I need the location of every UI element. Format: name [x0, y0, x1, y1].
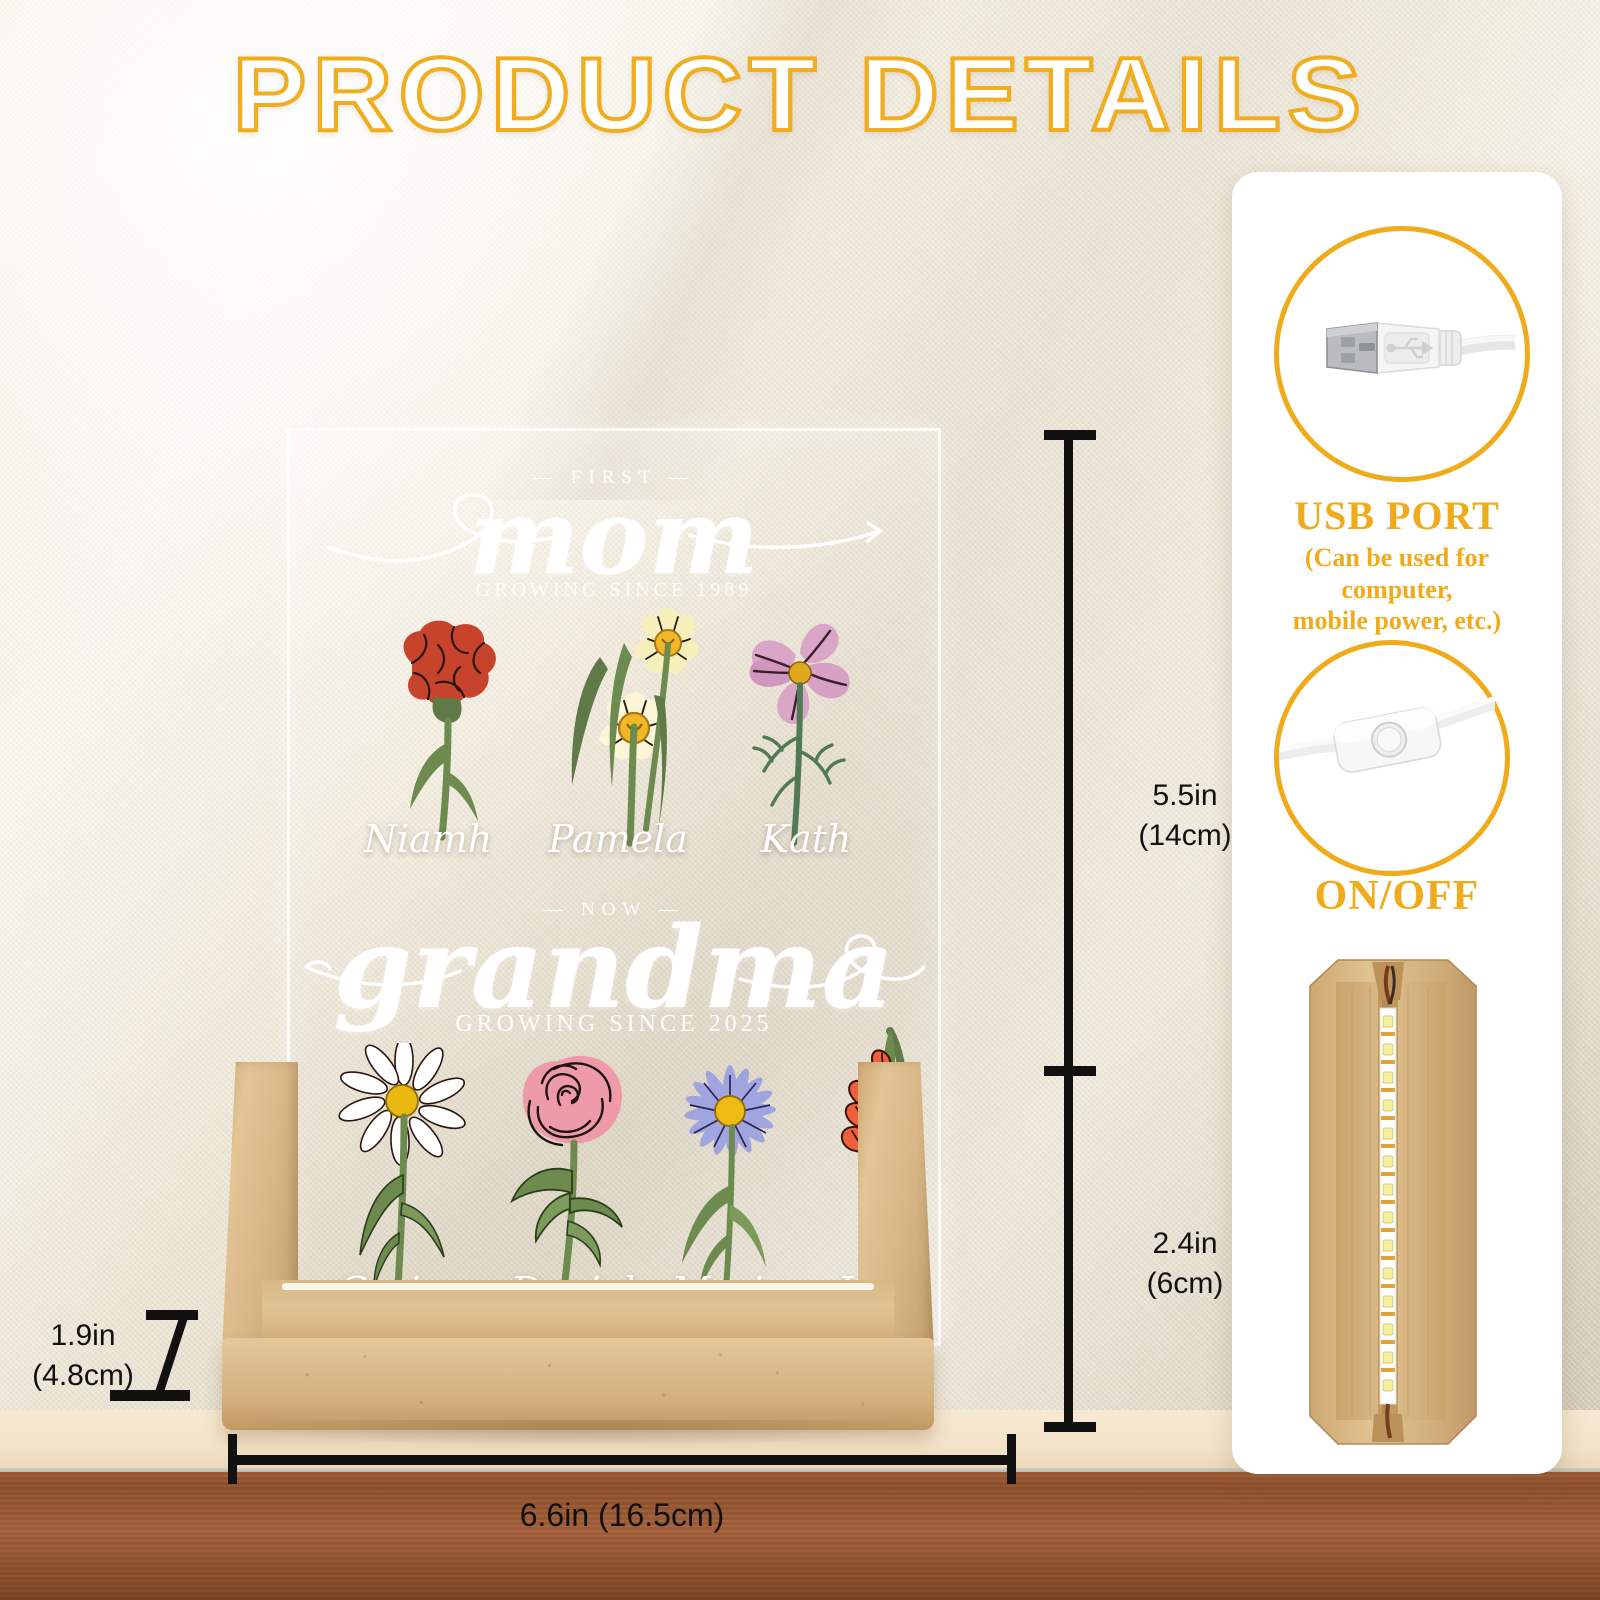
usb-sub-line-3: mobile power, etc.): [1293, 606, 1501, 635]
switch-title: ON/OFF: [1232, 872, 1562, 920]
dim-vertical-line: [1064, 430, 1073, 1432]
dim-depth-in: 1.9in: [50, 1319, 115, 1352]
inline-cable-switch-icon: [1279, 645, 1495, 861]
feature-card: USB PORT (Can be used for computer, mobi…: [1232, 172, 1562, 1474]
usb-subtitle: (Can be used for computer, mobile power,…: [1232, 542, 1562, 637]
dim-width-tick-right: [1007, 1434, 1016, 1484]
dim-base-cm: (6cm): [1147, 1267, 1224, 1300]
page-title: PRODUCT DETAILS: [0, 36, 1600, 155]
flower-name-label: Niamh: [328, 817, 528, 861]
usb-connector-icon: [1279, 231, 1515, 467]
dim-tick-top: [1044, 430, 1096, 440]
dim-tick-bottom: [1044, 1422, 1096, 1432]
stand-shadow: [238, 1420, 928, 1446]
dim-label-width: 6.6in (16.5cm): [422, 1494, 822, 1536]
dim-plaque-in: 5.5in: [1152, 779, 1217, 812]
stand-slot: [282, 1283, 874, 1290]
usb-sub-line-2: computer,: [1342, 575, 1453, 604]
flower-carnation-icon: [368, 611, 528, 841]
dim-width-line: [228, 1455, 1016, 1465]
wooden-base-led-strip-icon: [1284, 952, 1510, 1452]
flower-name-label: Pamela: [518, 817, 718, 861]
usb-sub-line-1: (Can be used for: [1305, 543, 1489, 572]
switch-circle-frame: [1274, 640, 1510, 876]
flower-cosmos-icon: [720, 611, 885, 846]
dim-depth-cm: (4.8cm): [32, 1359, 134, 1392]
usb-title: USB PORT: [1232, 492, 1562, 539]
dim-label-depth: 1.9in (4.8cm): [8, 1316, 158, 1395]
stand-base-front: [222, 1338, 934, 1430]
dim-tick-middle: [1044, 1066, 1096, 1076]
flower-daffodil-icon: [528, 599, 703, 849]
wooden-stand: [222, 1062, 934, 1430]
dim-base-in: 2.4in: [1152, 1227, 1217, 1260]
product-scene: PRODUCT DETAILS — FIRST — mom GROWING SI…: [0, 0, 1600, 1600]
usb-circle-frame: [1274, 226, 1530, 482]
dim-width-tick-left: [228, 1434, 237, 1484]
flower-name-label: Kath: [706, 817, 906, 861]
dim-plaque-cm: (14cm): [1138, 819, 1231, 852]
